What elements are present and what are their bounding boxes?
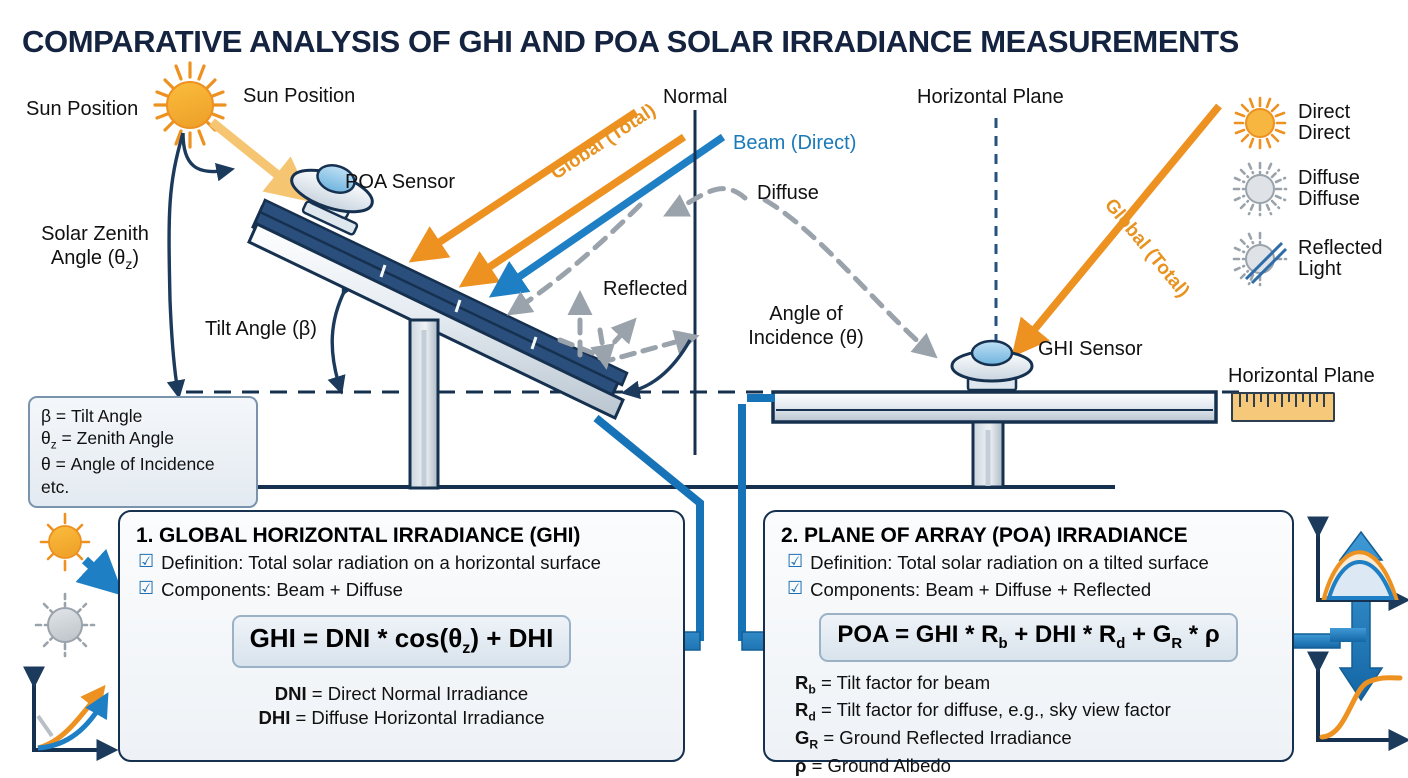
- label-poa-sensor: POA Sensor: [345, 171, 455, 193]
- sun-direct-icon: [1232, 95, 1288, 151]
- ghi-bullet-1-text: Components: Beam + Diffuse: [161, 579, 403, 602]
- label-angle-incidence-line2: Incidence (θ): [712, 327, 900, 349]
- legend-item-diffuse: Diffuse Diffuse: [1232, 154, 1383, 224]
- notation-line-1: θz = Zenith Angle: [41, 427, 246, 453]
- ghi-def-1: DHI = Diffuse Horizontal Irradiance: [120, 706, 683, 730]
- notation-line-2: θ = Angle of Incidence: [41, 453, 246, 475]
- sunlight-arrow: [212, 122, 299, 192]
- label-horizontal-plane-ruler: Horizontal Plane: [1228, 365, 1375, 387]
- global-total-label-right: Global (Total): [1100, 195, 1193, 302]
- legend-label-reflected-2: Light: [1298, 259, 1383, 280]
- ghi-info-panel: 1. GLOBAL HORIZONTAL IRRADIANCE (GHI) ☑ …: [118, 510, 685, 762]
- ghi-formula: GHI = DNI * cos(θz) + DHI: [232, 615, 572, 668]
- notation-line-3: etc.: [41, 476, 246, 498]
- label-reflected: Reflected: [603, 278, 688, 300]
- label-diffuse: Diffuse: [757, 182, 819, 204]
- legend-label-reflected-1: Reflected: [1298, 238, 1383, 259]
- ghi-sensor-icon: [952, 341, 1032, 390]
- poa-info-panel: 2. PLANE OF ARRAY (POA) IRRADIANCE ☑ Def…: [763, 510, 1294, 762]
- diagram-canvas: COMPARATIVE ANALYSIS OF GHI AND POA SOLA…: [0, 0, 1408, 768]
- label-ghi-sensor: GHI Sensor: [1038, 338, 1142, 360]
- checkbox-icon: ☑: [787, 552, 803, 570]
- sun-position-icon: [155, 63, 225, 147]
- checkbox-icon: ☑: [787, 579, 803, 597]
- poa-panel-heading: 2. PLANE OF ARRAY (POA) IRRADIANCE: [781, 524, 1292, 548]
- ghi-panel-heading: 1. GLOBAL HORIZONTAL IRRADIANCE (GHI): [136, 524, 683, 548]
- ghi-bullet-0-text: Definition: Total solar radiation on a h…: [161, 552, 601, 575]
- checkbox-icon: ☑: [138, 552, 154, 570]
- sun-diffuse-icon: [1232, 161, 1288, 217]
- label-solar-zenith-line1: Solar Zenith: [30, 223, 160, 245]
- poa-bullet-0-text: Definition: Total solar radiation on a t…: [810, 552, 1209, 575]
- notation-line-0: β = Tilt Angle: [41, 405, 246, 427]
- poa-formula: POA = GHI * Rb + DHI * Rd + GR * ρ: [819, 613, 1237, 662]
- sun-direct-small-icon: [41, 514, 89, 570]
- left-icon-column: [34, 514, 112, 750]
- poa-def-0: Rb = Tilt factor for beam: [795, 671, 1292, 699]
- poa-def-1: Rd = Tilt factor for diffuse, e.g., sky …: [795, 698, 1292, 726]
- label-angle-incidence-line1: Angle of: [712, 303, 900, 325]
- ruler-icon: [1231, 392, 1335, 422]
- beam-direct-arrow: [500, 137, 723, 290]
- checkbox-icon: ☑: [138, 579, 154, 597]
- legend-label-diffuse-1: Diffuse: [1298, 168, 1360, 189]
- legend-label-diffuse-2: Diffuse: [1298, 189, 1360, 210]
- global-total-label-left: Global (Total): [547, 100, 660, 184]
- poa-def-3: ρ = Ground Albedo: [795, 754, 1292, 778]
- ghi-bullet-0: ☑ Definition: Total solar radiation on a…: [138, 552, 683, 575]
- solar-zenith-arc: [169, 133, 183, 392]
- label-solar-zenith-line2: Angle (θz): [30, 247, 160, 273]
- angle-of-incidence-arc: [628, 340, 690, 392]
- poa-bullet-1-text: Components: Beam + Diffuse + Reflected: [810, 579, 1151, 602]
- poa-bullet-0: ☑ Definition: Total solar radiation on a…: [787, 552, 1292, 575]
- label-sun-position-right: Sun Position: [243, 85, 355, 107]
- diffuse-arrow-left: [672, 189, 745, 212]
- label-sun-position-left: Sun Position: [26, 98, 138, 120]
- legend-label-direct-1: Direct: [1298, 102, 1350, 123]
- poa-def-2: GR = Ground Reflected Irradiance: [795, 726, 1292, 754]
- ghi-def-0: DNI = Direct Normal Irradiance: [120, 682, 683, 706]
- curve-chart-small-icon: [34, 680, 110, 750]
- legend-label-direct-2: Direct: [1298, 123, 1350, 144]
- sun-diffuse-small-icon: [36, 594, 94, 656]
- notation-box: β = Tilt Angle θz = Zenith Angle θ = Ang…: [28, 396, 258, 508]
- ghi-horizontal-platform: [773, 392, 1216, 487]
- label-horizontal-plane-top: Horizontal Plane: [917, 86, 1064, 108]
- label-tilt-angle: Tilt Angle (β): [205, 318, 317, 340]
- label-normal: Normal: [663, 86, 727, 108]
- poa-bullet-1: ☑ Components: Beam + Diffuse + Reflected: [787, 579, 1292, 602]
- legend-item-reflected: Reflected Light: [1232, 224, 1383, 294]
- label-beam-direct: Beam (Direct): [733, 132, 856, 154]
- tilt-angle-arc: [332, 290, 345, 388]
- legend-item-direct: Direct Direct: [1232, 92, 1383, 154]
- legend-list: Direct Direct Diffuse: [1232, 92, 1383, 294]
- ghi-bullet-1: ☑ Components: Beam + Diffuse: [138, 579, 683, 602]
- sun-reflected-icon: [1232, 231, 1288, 287]
